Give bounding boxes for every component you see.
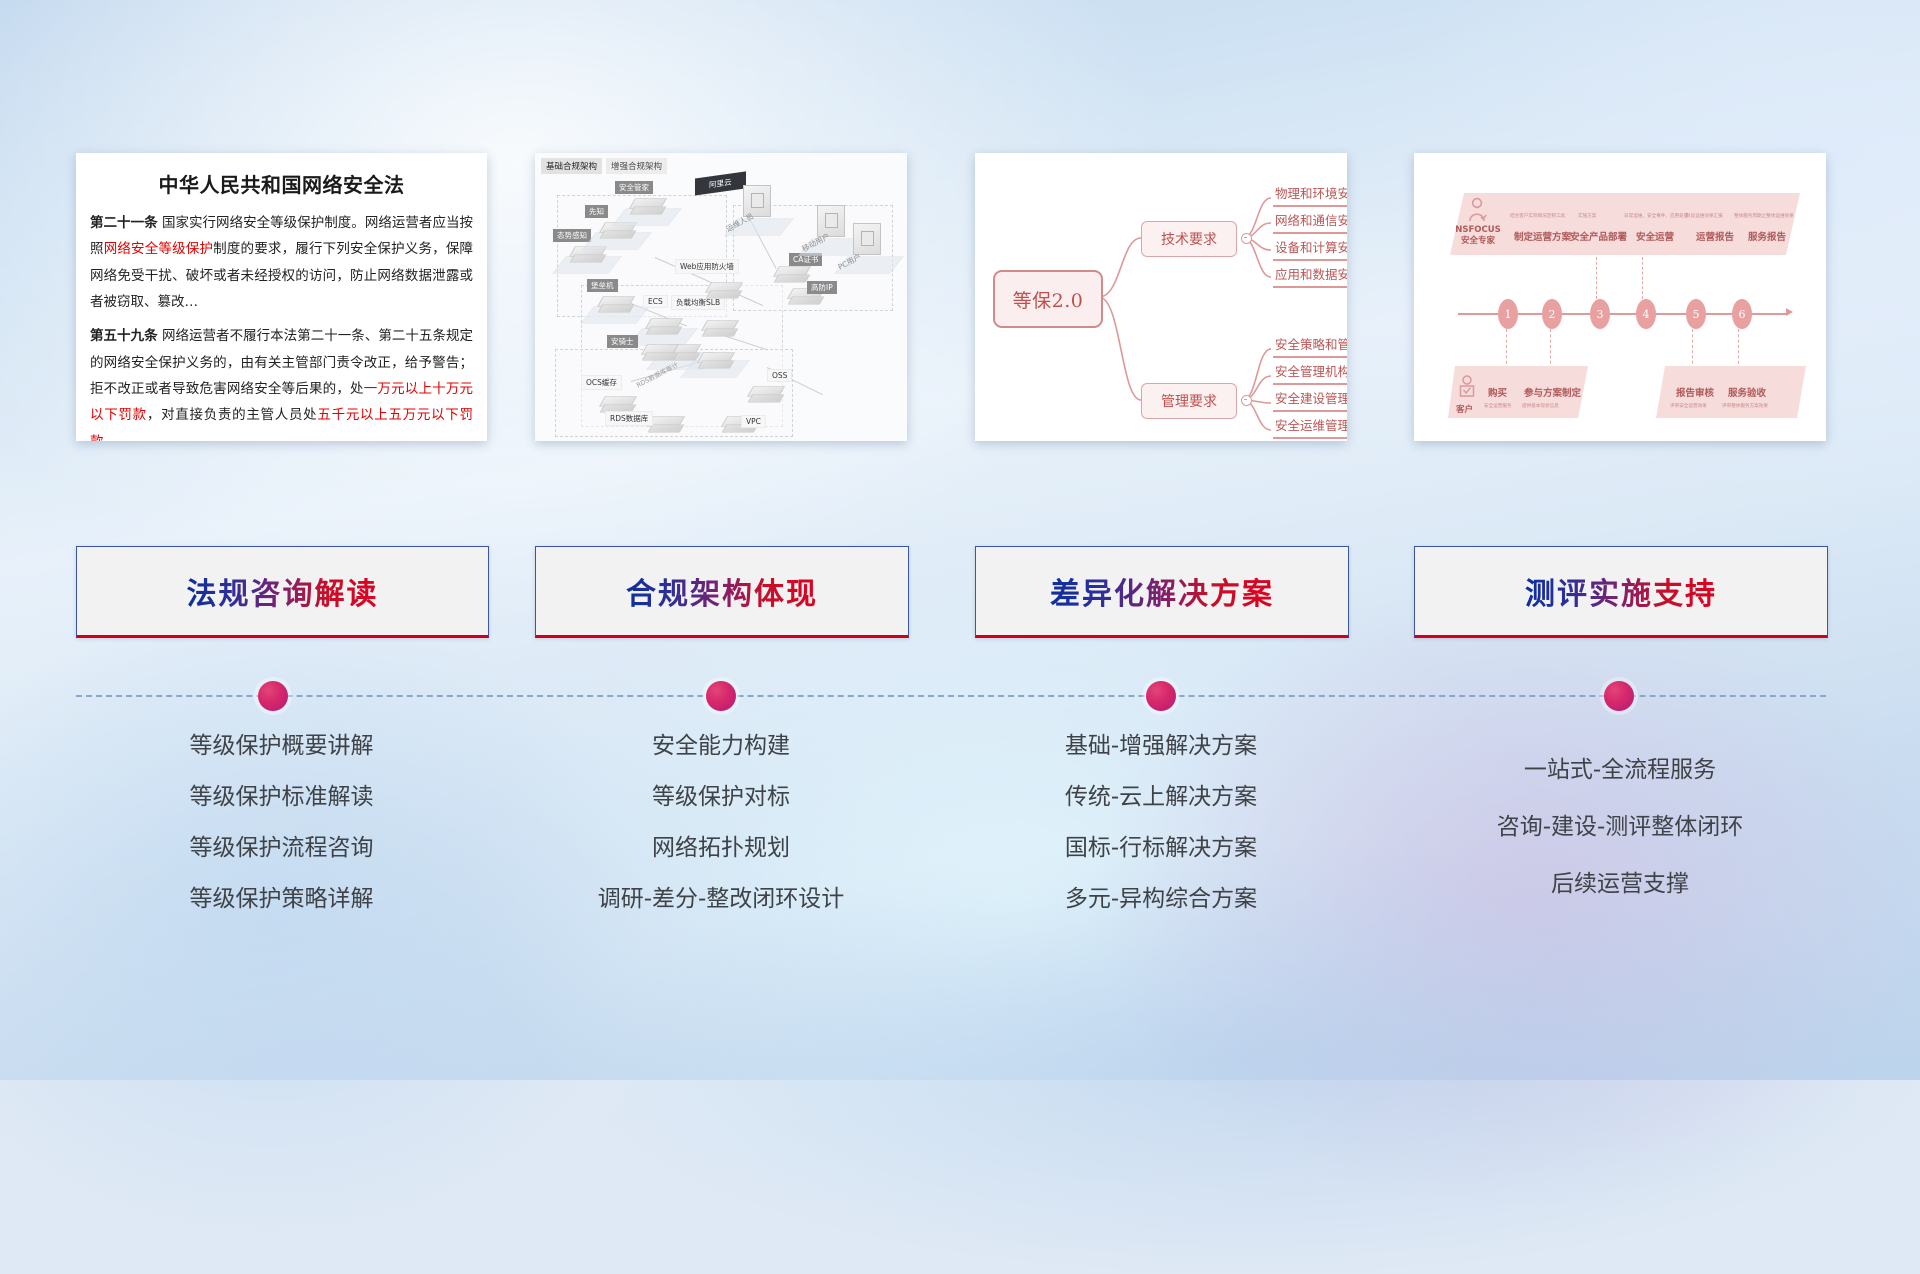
mindmap-leaf-underline-7 [1273, 410, 1347, 412]
nsfocus-canvas: NSFOCUS 安全专家 结合客户实际情况定制工具 制定运营方案 实施方案 安全… [1414, 153, 1826, 441]
list-item: 等级保护策略详解 [76, 888, 487, 911]
list-item: 等级保护流程咨询 [76, 837, 487, 860]
timeline-dot-3[interactable] [1146, 681, 1176, 711]
card-compliance-architecture[interactable]: 基础合规架构 增强合规架构 态势感知 先知 安全管家 [535, 153, 907, 441]
architecture-label-ocs-cache: OCS缓存 [581, 375, 622, 390]
feature-column-3: 基础-增强解决方案 传统-云上解决方案 国标-行标解决方案 多元-异构综合方案 [975, 735, 1347, 939]
nsfocus-step-circle-2[interactable]: 2 [1542, 299, 1562, 329]
architecture-label-gaofang-ip: 高防IP [807, 281, 837, 294]
architecture-node-waf [705, 277, 741, 303]
feature-column-2: 安全能力构建 等级保护对标 网络拓扑规划 调研-差分-整改闭环设计 [535, 735, 907, 939]
timeline-dashed-line [76, 695, 1826, 697]
nsfocus-bottom-left-sub-1: 安全运营服务 [1484, 403, 1512, 409]
title-box-differentiated-solution[interactable]: 差异化解决方案 [975, 546, 1349, 638]
architecture-node-ecs [645, 313, 681, 339]
list-item: 基础-增强解决方案 [975, 735, 1347, 758]
law-title: 中华人民共和国网络安全法 [76, 169, 487, 198]
nsfocus-bottom-right-title-1[interactable]: 报告审核 [1676, 385, 1714, 399]
nsfocus-step-circle-1[interactable]: 1 [1498, 299, 1518, 329]
mindmap-leaf-app-data-security[interactable]: 应用和数据安全 [1275, 264, 1347, 285]
architecture-label-vpc: VPC [741, 415, 766, 428]
mindmap-leaf-underline-1 [1273, 205, 1347, 207]
mindmap-leaf-underline-8 [1273, 437, 1347, 439]
nsfocus-bottom-left-title-1[interactable]: 购买 [1488, 385, 1507, 399]
title-box-regulation-consulting[interactable]: 法规咨询解读 [76, 546, 489, 638]
nsfocus-dash-4 [1642, 257, 1644, 299]
nsfocus-bottom-left-title-2[interactable]: 参与方案制定 [1524, 385, 1581, 399]
nsfocus-bottom-right-sub-2: 评审整体服务方案效果 [1722, 403, 1768, 409]
nsfocus-top-sub-3: 日常运维、安全事件、应用处置 [1624, 213, 1688, 219]
law-article-21: 第二十一条 国家实行网络安全等级保护制度。网络运营者应当按照网络安全等级保护制度… [90, 210, 473, 315]
mindmap-collapse-icon-management[interactable] [1241, 395, 1252, 406]
nsfocus-dash-1 [1506, 329, 1508, 369]
card-nsfocus-process[interactable]: NSFOCUS 安全专家 结合客户实际情况定制工具 制定运营方案 实施方案 安全… [1414, 153, 1826, 441]
nsfocus-dash-6 [1738, 329, 1740, 369]
feature-columns: 等级保护概要讲解 等级保护标准解读 等级保护流程咨询 等级保护策略详解 安全能力… [0, 735, 1920, 995]
nsfocus-top-sub-4: 阶段运维效果汇报 [1686, 213, 1723, 219]
law-article-59: 第五十九条 网络运营者不履行本法第二十一条、第二十五条规定的网络安全保护义务的，… [90, 323, 473, 441]
timeline-dot-1[interactable] [258, 681, 288, 711]
list-item: 一站式-全流程服务 [1414, 759, 1826, 782]
article-59-text-c: 。 [104, 434, 118, 442]
list-item: 咨询-建设-测评整体闭环 [1414, 816, 1826, 839]
list-item: 等级保护标准解读 [76, 786, 487, 809]
nsfocus-axis-arrow-icon [1786, 308, 1793, 316]
mindmap-collapse-icon-technical[interactable] [1241, 233, 1252, 244]
mindmap-leaf-security-org-personnel[interactable]: 安全管理机构和人员 [1275, 361, 1347, 382]
customer-person-icon [1458, 375, 1476, 399]
architecture-label-bastion-host: 堡垒机 [587, 279, 618, 292]
mindmap-branch-management-requirements[interactable]: 管理要求 [1141, 383, 1237, 419]
nsfocus-dash-3 [1596, 257, 1598, 299]
list-item: 等级保护概要讲解 [76, 735, 487, 758]
list-item: 后续运营支撑 [1414, 873, 1826, 896]
title-box-evaluation-support[interactable]: 测评实施支持 [1414, 546, 1828, 638]
article-59-label: 第五十九条 [90, 328, 158, 344]
architecture-node-oss [747, 381, 783, 407]
timeline-dot-4[interactable] [1604, 681, 1634, 711]
architecture-label-rds: RDS数据库 [605, 411, 653, 426]
architecture-label-waf: Web应用防火墙 [675, 259, 739, 274]
article-21-label: 第二十一条 [90, 215, 158, 231]
nsfocus-top-title-3[interactable]: 安全运营 [1636, 229, 1674, 243]
list-item: 国标-行标解决方案 [975, 837, 1347, 860]
nsfocus-bottom-right-sub-1: 评审安全运营效果 [1670, 403, 1707, 409]
mindmap-leaf-security-ops-mgmt[interactable]: 安全运维管理 [1275, 415, 1347, 436]
mindmap-leaf-underline-2 [1273, 232, 1347, 234]
nsfocus-step-circle-5[interactable]: 5 [1686, 299, 1706, 329]
title-label-4: 测评实施支持 [1525, 569, 1717, 613]
nsfocus-brand-line-2: 安全专家 [1450, 236, 1506, 247]
architecture-node-bastion-host [597, 291, 633, 317]
mindmap-leaf-underline-4 [1273, 286, 1347, 288]
mindmap-leaf-device-compute-security[interactable]: 设备和计算安全 [1275, 237, 1347, 258]
architecture-label-ecs: ECS [643, 295, 668, 308]
list-item: 等级保护对标 [535, 786, 907, 809]
nsfocus-step-circle-3[interactable]: 3 [1590, 299, 1610, 329]
nsfocus-brand: NSFOCUS 安全专家 [1450, 225, 1506, 246]
mindmap-leaf-underline-3 [1273, 259, 1347, 261]
feature-column-4: 一站式-全流程服务 咨询-建设-测评整体闭环 后续运营支撑 [1414, 735, 1826, 930]
mindmap-leaf-security-build-mgmt[interactable]: 安全建设管理 [1275, 388, 1347, 409]
cards-row: 中华人民共和国网络安全法 第二十一条 国家实行网络安全等级保护制度。网络运营者应… [0, 0, 1920, 460]
title-label-1: 法规咨询解读 [187, 569, 379, 613]
nsfocus-top-sub-1: 结合客户实际情况定制工具 [1510, 213, 1565, 219]
mindmap-leaf-network-comm-security[interactable]: 网络和通信安全 [1275, 210, 1347, 231]
nsfocus-top-sub-2: 实施方案 [1578, 213, 1596, 219]
nsfocus-dash-5 [1692, 329, 1694, 369]
card-cybersecurity-law[interactable]: 中华人民共和国网络安全法 第二十一条 国家实行网络安全等级保护制度。网络运营者应… [76, 153, 487, 441]
nsfocus-dash-2 [1550, 329, 1552, 369]
title-boxes-row: 法规咨询解读 合规架构体现 差异化解决方案 测评实施支持 [0, 546, 1920, 656]
mindmap-leaf-physical-env-security[interactable]: 物理和环境安全 [1275, 183, 1347, 204]
nsfocus-top-sub-5: 整体服务周期之整体运维效果 [1734, 213, 1794, 219]
title-label-3: 差异化解决方案 [1050, 569, 1274, 613]
nsfocus-step-circle-6[interactable]: 6 [1732, 299, 1752, 329]
list-item: 安全能力构建 [535, 735, 907, 758]
architecture-label-security-butler: 安全管家 [615, 181, 653, 194]
nsfocus-top-title-2[interactable]: 安全产品部署 [1570, 229, 1627, 243]
architecture-label-anqishi: 安骑士 [607, 335, 638, 348]
architecture-node-slb [701, 315, 737, 341]
nsfocus-bottom-left-sub-2: 提供基本现状信息 [1522, 403, 1559, 409]
nsfocus-customer-label: 客户 [1456, 403, 1473, 415]
architecture-label-oss: OSS [767, 369, 792, 382]
list-item: 多元-异构综合方案 [975, 888, 1347, 911]
nsfocus-top-title-1[interactable]: 制定运营方案 [1514, 229, 1571, 243]
law-body: 第二十一条 国家实行网络安全等级保护制度。网络运营者应当按照网络安全等级保护制度… [76, 210, 487, 441]
card-mindmap-dengbao[interactable]: 等保2.0 技术要求 管理要求 物理和环境安全 网络和通信安全 设备和计算安全 … [975, 153, 1347, 441]
mindmap-leaf-underline-5 [1273, 356, 1347, 358]
mindmap-leaf-underline-6 [1273, 383, 1347, 385]
mindmap-leaf-security-policy-system[interactable]: 安全策略和管理制度 [1275, 334, 1347, 355]
nsfocus-brand-line-1: NSFOCUS [1450, 225, 1506, 236]
mindmap-canvas: 等保2.0 技术要求 管理要求 物理和环境安全 网络和通信安全 设备和计算安全 … [975, 153, 1347, 441]
nsfocus-top-title-4[interactable]: 运营报告 [1696, 229, 1734, 243]
list-item: 调研-差分-整改闭环设计 [535, 888, 907, 911]
nsfocus-step-circle-4[interactable]: 4 [1636, 299, 1656, 329]
mindmap-branch-technical-requirements[interactable]: 技术要求 [1141, 221, 1237, 257]
architecture-label-xianzhi: 先知 [585, 205, 608, 218]
mindmap-root-node[interactable]: 等保2.0 [993, 270, 1103, 328]
architecture-label-situational-awareness: 态势感知 [553, 229, 591, 242]
feature-column-1: 等级保护概要讲解 等级保护标准解读 等级保护流程咨询 等级保护策略详解 [76, 735, 487, 939]
title-box-compliance-architecture[interactable]: 合规架构体现 [535, 546, 909, 638]
architecture-canvas: 态势感知 先知 安全管家 阿里云 堡垒机 ECS 安骑士 O [535, 153, 907, 441]
nsfocus-top-title-5[interactable]: 服务报告 [1748, 229, 1786, 243]
architecture-label-alicloud: 阿里云 [695, 171, 746, 195]
list-item: 传统-云上解决方案 [975, 786, 1347, 809]
title-label-2: 合规架构体现 [626, 569, 818, 613]
article-21-highlight: 网络安全等级保护 [104, 241, 213, 257]
article-59-text-b: ，对直接负责的主管人员处 [147, 407, 318, 423]
architecture-node-ecs-3 [697, 347, 733, 373]
nsfocus-bottom-right-title-2[interactable]: 服务验收 [1728, 385, 1766, 399]
timeline-row [0, 665, 1920, 725]
timeline-dot-2[interactable] [706, 681, 736, 711]
architecture-node-security-butler [629, 193, 665, 219]
expert-person-icon [1466, 197, 1488, 223]
list-item: 网络拓扑规划 [535, 837, 907, 860]
